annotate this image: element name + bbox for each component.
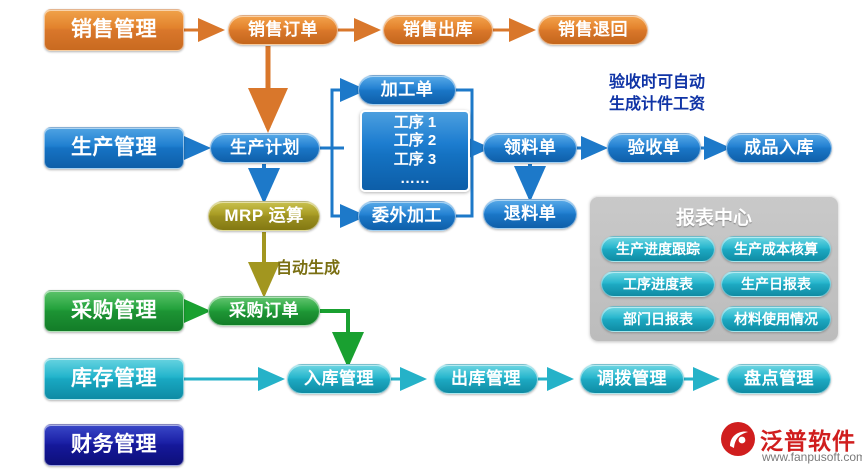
category-production[interactable]: 生产管理 (44, 127, 184, 169)
fanpu-logo-icon (718, 420, 758, 460)
process-step-ellipsis: …… (400, 170, 430, 189)
node-sales-return[interactable]: 销售退回 (538, 15, 648, 45)
node-picking[interactable]: 领料单 (483, 133, 577, 163)
node-in-stock[interactable]: 入库管理 (287, 364, 391, 394)
node-purchase-order[interactable]: 采购订单 (208, 296, 320, 326)
node-outsourcing[interactable]: 委外加工 (358, 201, 456, 231)
report-prod-daily[interactable]: 生产日报表 (721, 271, 831, 297)
node-stocktake[interactable]: 盘点管理 (727, 364, 831, 394)
brand-logo: 泛普软件 www.fanpusoft.com (718, 420, 858, 468)
category-finance[interactable]: 财务管理 (44, 424, 184, 466)
report-process-progress[interactable]: 工序进度表 (601, 271, 715, 297)
category-inventory[interactable]: 库存管理 (44, 358, 184, 400)
annotation-auto-generate: 自动生成 (276, 254, 340, 278)
brand-url: www.fanpusoft.com (762, 450, 862, 464)
annotation-acceptance-note: 验收时可自动 生成计件工资 (572, 72, 742, 115)
node-out-stock[interactable]: 出库管理 (434, 364, 538, 394)
report-center-title: 报表中心 (590, 203, 838, 230)
node-sales-out[interactable]: 销售出库 (383, 15, 493, 45)
node-return-material[interactable]: 退料单 (483, 199, 577, 229)
node-mrp[interactable]: MRP 运算 (208, 201, 320, 231)
node-process-order[interactable]: 加工单 (358, 75, 456, 105)
node-sales-order[interactable]: 销售订单 (228, 15, 338, 45)
process-steps-box: 工序 1 工序 2 工序 3 …… (360, 110, 470, 192)
report-prod-progress[interactable]: 生产进度跟踪 (601, 236, 715, 262)
category-sales[interactable]: 销售管理 (44, 9, 184, 51)
process-step-3: 工序 3 (394, 151, 437, 170)
node-acceptance[interactable]: 验收单 (607, 133, 701, 163)
node-production-plan[interactable]: 生产计划 (210, 133, 320, 163)
report-prod-cost[interactable]: 生产成本核算 (721, 236, 831, 262)
node-transfer[interactable]: 调拨管理 (580, 364, 684, 394)
node-finished-in[interactable]: 成品入库 (726, 133, 832, 163)
category-purchase[interactable]: 采购管理 (44, 290, 184, 332)
flowchart-canvas: 销售管理 生产管理 采购管理 库存管理 财务管理 销售订单 销售出库 销售退回 … (0, 0, 862, 475)
process-step-1: 工序 1 (394, 114, 437, 133)
process-step-2: 工序 2 (394, 132, 437, 151)
report-material-usage[interactable]: 材料使用情况 (721, 306, 831, 332)
report-dept-daily[interactable]: 部门日报表 (601, 306, 715, 332)
